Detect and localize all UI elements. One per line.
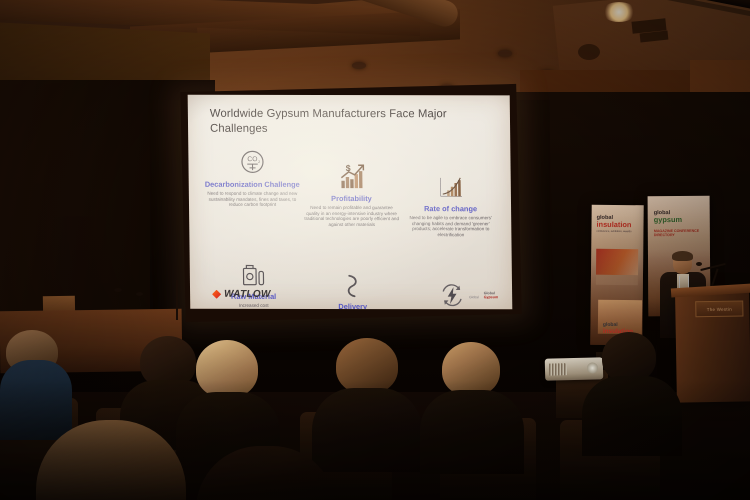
slide-item-heading: Rate of change bbox=[403, 204, 498, 213]
slide-item-body: Increased cost bbox=[206, 303, 301, 309]
svg-text:2: 2 bbox=[258, 160, 260, 164]
slide-item-grid: CO 2 Decarbonization Challenge Need to r… bbox=[202, 143, 502, 310]
ceiling-speaker-icon bbox=[578, 44, 600, 60]
global-insulation-banner-lower: global insulation bbox=[598, 300, 642, 334]
bar-chart-dollar-icon: $ bbox=[303, 157, 398, 191]
slide-row-top: CO 2 Decarbonization Challenge Need to r… bbox=[202, 143, 501, 238]
svg-text:CO: CO bbox=[247, 156, 257, 163]
slide-item-delivery: Delivery Delivery for equipment from to … bbox=[303, 253, 403, 309]
slide-credit: Global Global Gypsum bbox=[469, 291, 498, 299]
watlow-logo: WATLOW bbox=[212, 289, 271, 300]
recessed-light bbox=[352, 62, 366, 69]
svg-text:$: $ bbox=[345, 163, 350, 173]
slide-item-profitability: $ Profitability Need to remain profitabl… bbox=[301, 143, 401, 238]
conference-room-photo: Worldwide Gypsum Manufacturers Face Majo… bbox=[0, 0, 750, 500]
line-chart-rising-icon bbox=[403, 167, 498, 201]
podium-sign-text: The Westin bbox=[707, 306, 732, 311]
raw-material-bag-icon bbox=[206, 255, 301, 289]
global-gypsum-credit-logo: Global Gypsum bbox=[484, 291, 498, 299]
watlow-wordmark: WATLOW bbox=[224, 289, 271, 300]
microphone-head-icon bbox=[696, 262, 702, 266]
slide-item-raw-material: Raw Material Increased cost bbox=[204, 253, 304, 309]
credit-line-2: Gypsum bbox=[484, 295, 498, 299]
podium-sign: The Westin bbox=[695, 300, 743, 317]
banner-stand-pole bbox=[176, 280, 178, 320]
presentation-slide: Worldwide Gypsum Manufacturers Face Majo… bbox=[188, 95, 513, 310]
foreground-shadow bbox=[0, 380, 750, 500]
slide-item-energy: Energy Cost of natural gas X10 from a co… bbox=[402, 253, 502, 309]
downlight-icon bbox=[602, 2, 636, 22]
slide-title: Worldwide Gypsum Manufacturers Face Majo… bbox=[210, 107, 480, 136]
speaker-hair bbox=[672, 251, 693, 261]
slide-item-heading: Profitability bbox=[304, 194, 399, 203]
slide-item-heading: Decarbonization Challenge bbox=[205, 180, 300, 189]
slide-item-heading: Delivery bbox=[305, 302, 400, 309]
slide-item-body: Need to be agile to embrace consumers' c… bbox=[403, 215, 498, 238]
projector-vent bbox=[549, 363, 567, 375]
slide-row-bottom: Raw Material Increased cost Delivery Del… bbox=[204, 253, 503, 309]
projection-screen: Worldwide Gypsum Manufacturers Face Majo… bbox=[180, 84, 522, 322]
projector-lens-icon bbox=[587, 362, 598, 373]
co2-circle-icon: CO 2 bbox=[204, 143, 299, 177]
slide-item-body: Need to remain profitable and guarantee … bbox=[304, 205, 399, 228]
delivery-hook-icon bbox=[305, 265, 400, 299]
slide-item-rate-of-change: Rate of change Need to be agile to embra… bbox=[400, 143, 500, 238]
projector bbox=[545, 357, 604, 381]
slide-item-body: Need to respond to climate change and ne… bbox=[205, 191, 300, 208]
slide-credit-label: Global bbox=[469, 295, 479, 299]
recessed-light bbox=[498, 50, 512, 57]
slide-item-decarbonization: CO 2 Decarbonization Challenge Need to r… bbox=[202, 143, 302, 238]
watlow-diamond-icon bbox=[212, 290, 221, 299]
audience-head bbox=[602, 332, 656, 382]
